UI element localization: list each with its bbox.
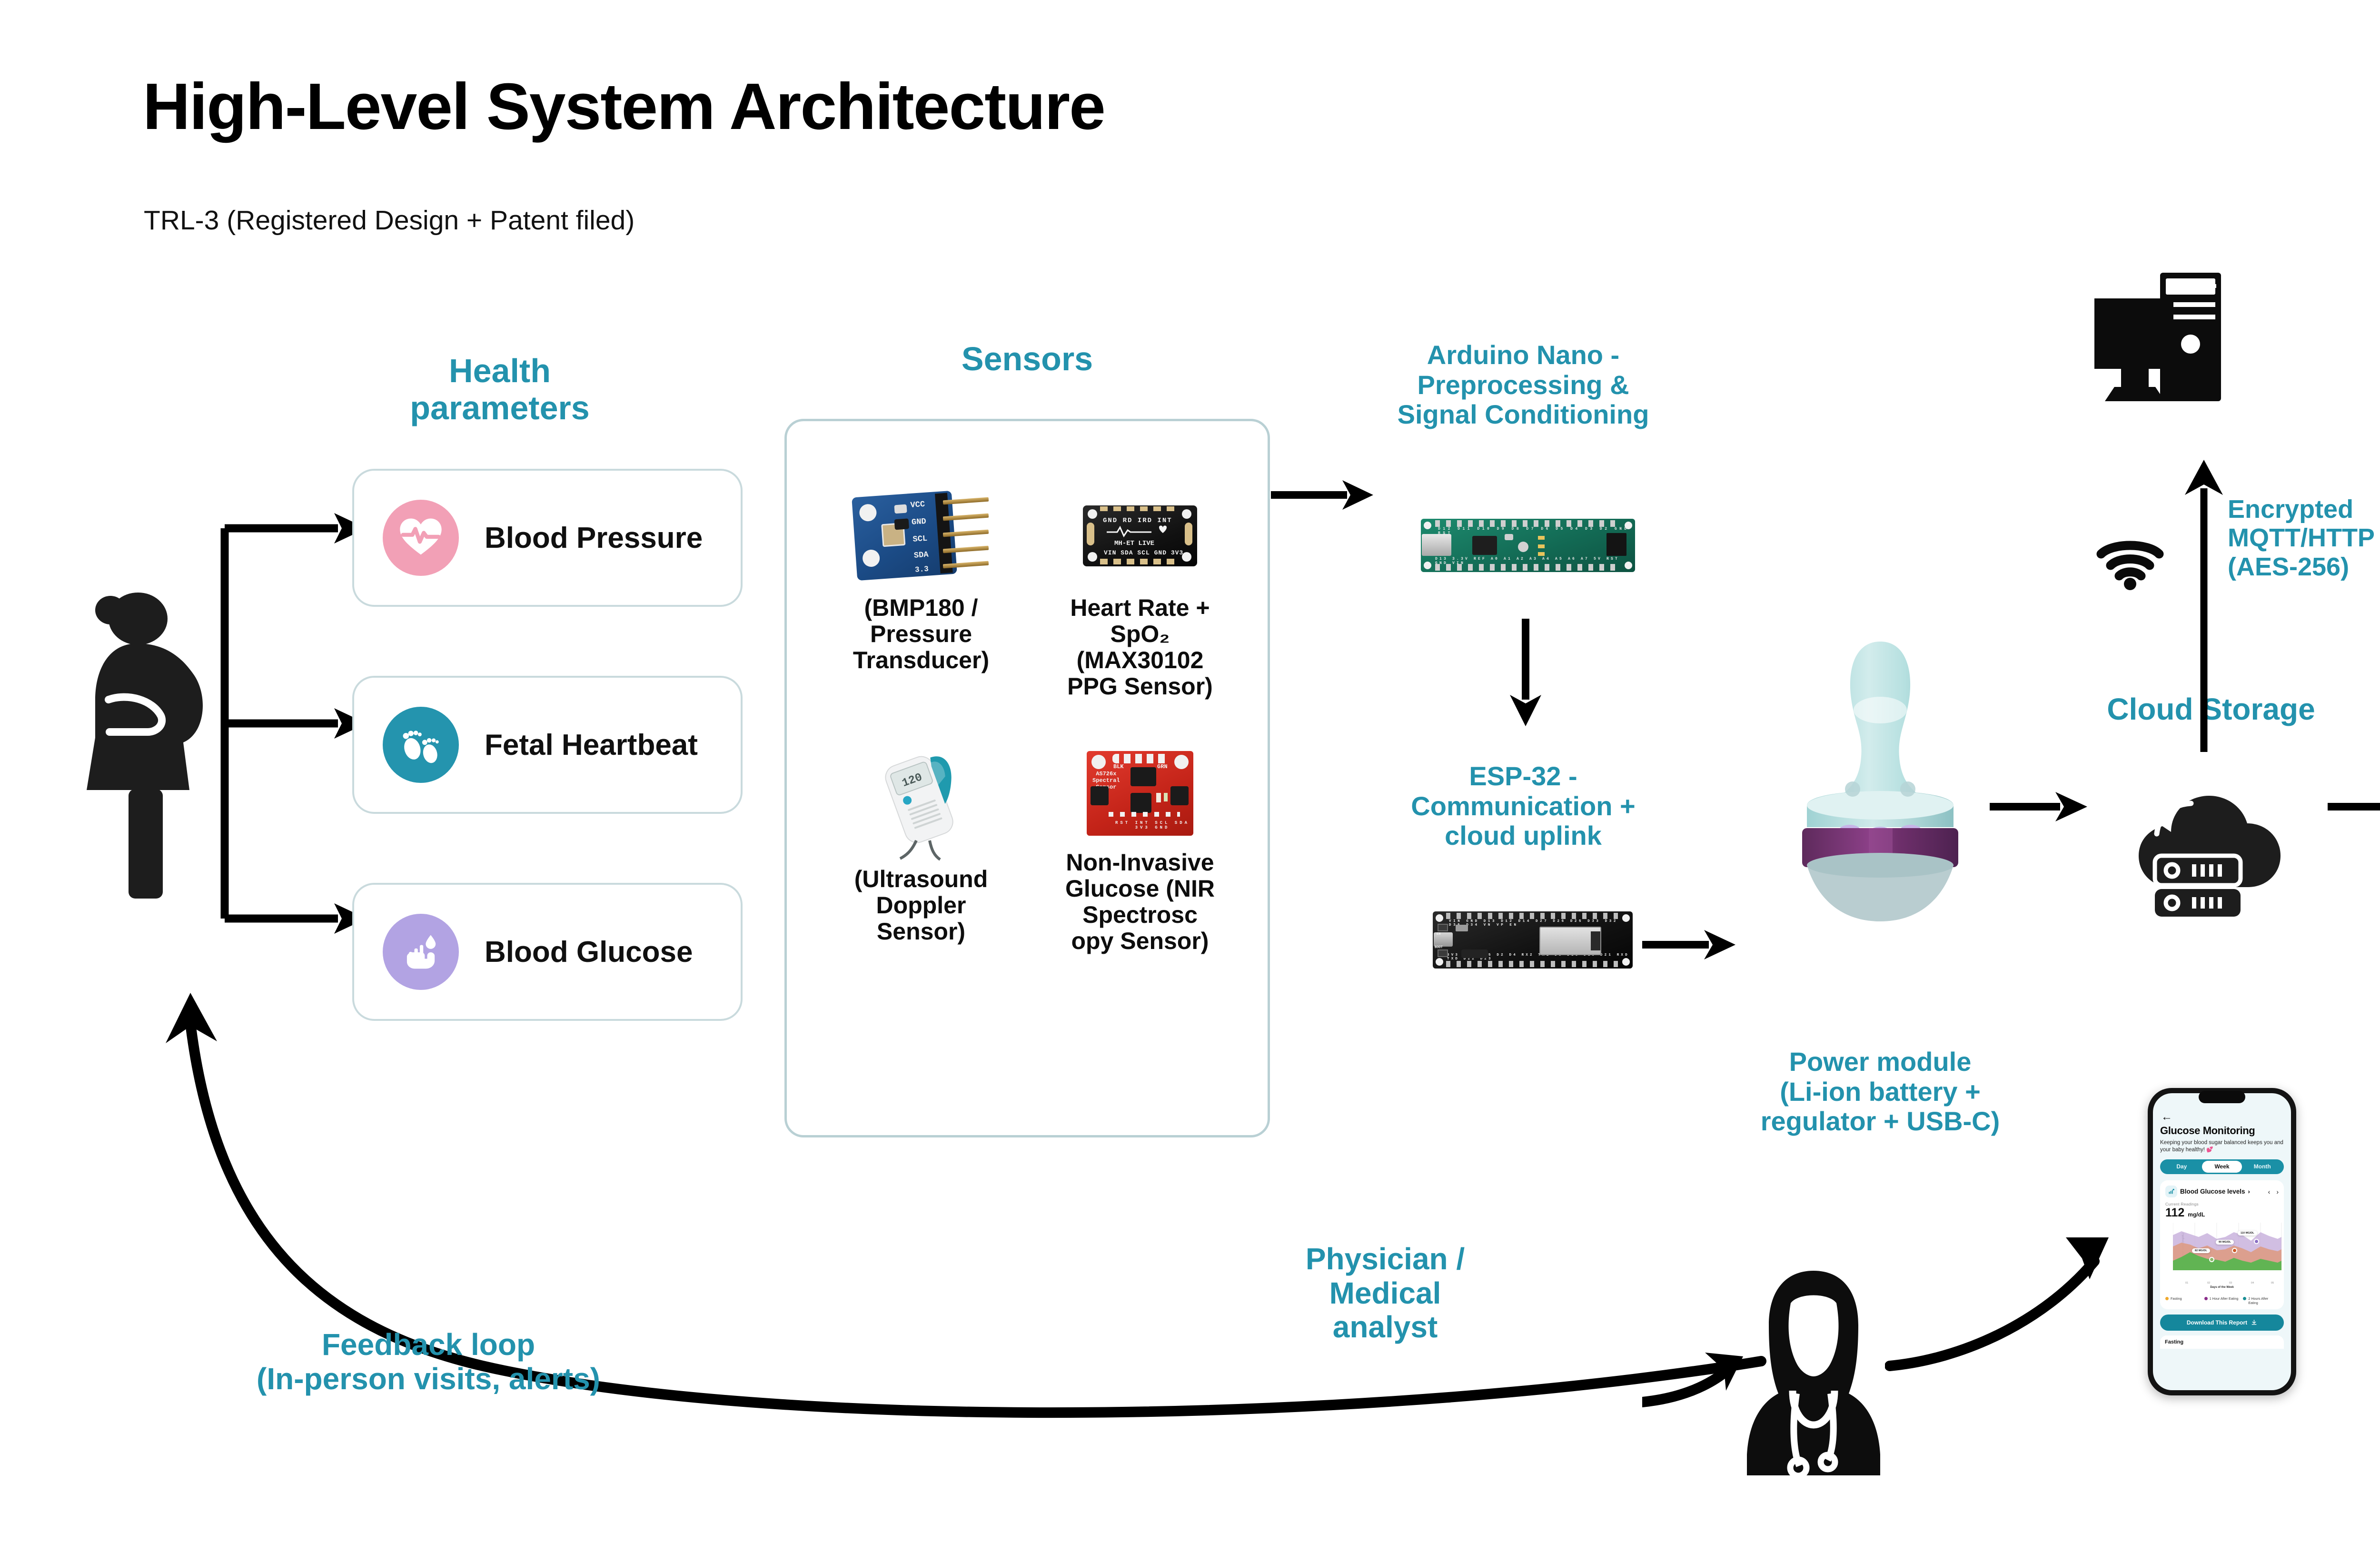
sensor-caption: (Ultrasound Doppler Sensor) (809, 866, 1033, 945)
arduino-label: Arduino Nano - Preprocessing & Signal Co… (1376, 340, 1671, 430)
chart-annotation-3: 110 MG/DL (2238, 1231, 2257, 1236)
chart-annotation-2: 90 MG/DL (2216, 1240, 2234, 1245)
arrow-cloud-to-dashboard (2175, 457, 2232, 752)
legend-label: 1 Hour After Eating (2210, 1296, 2239, 1305)
param-label: Blood Pressure (485, 521, 703, 555)
legend-dot (2243, 1297, 2246, 1300)
param-card-blood-pressure[interactable]: Blood Pressure (352, 469, 743, 607)
sensor-caption: (BMP180 / Pressure Transducer) (809, 595, 1033, 673)
physician-dashboard-label: Physician Dashboard (Web App) (2351, 259, 2380, 365)
glucose-card: Blood Glucose levels › ‹ › Current Readi… (2160, 1180, 2284, 1309)
range-tabs[interactable]: Day Week Month (2160, 1159, 2284, 1174)
legend-dot (2204, 1297, 2208, 1300)
mobile-app-phone[interactable]: ← Glucose Monitoring Keeping your blood … (2148, 1088, 2296, 1395)
chart-legend: Fasting 1 Hour After Eating 2 Hours Afte… (2165, 1296, 2279, 1305)
arrow-sensors-to-arduino (1271, 469, 1376, 521)
sensor-cell-max30102: GND RD IRD INT MH-ET LIVE VIN SDA SCL GN… (1028, 481, 1252, 700)
chart-xtick-4: 04 (2251, 1282, 2254, 1285)
download-report-button[interactable]: Download This Report (2160, 1315, 2284, 1331)
chart-point-3 (2254, 1239, 2259, 1244)
page-title: High-Level System Architecture (143, 69, 1105, 145)
legend-dot (2165, 1297, 2169, 1300)
tab-month[interactable]: Month (2242, 1161, 2282, 1173)
legend-label: Fasting (2171, 1296, 2182, 1305)
legend-label: 2 Hours After Eating (2248, 1296, 2279, 1305)
arrow-cloud-to-ai (2328, 781, 2380, 833)
mobile-app-label: Mobile App (2342, 1275, 2380, 1344)
pregnant-woman-icon (81, 581, 224, 914)
phone-notch (2199, 1091, 2245, 1103)
glucose-unit: mg/dL (2188, 1211, 2205, 1218)
arrow-power-to-cloud (1990, 781, 2090, 833)
app-page-subtitle: Keeping your blood sugar balanced keeps … (2160, 1139, 2284, 1154)
app-page-title: Glucose Monitoring (2160, 1125, 2284, 1137)
arrow-arduino-to-esp32 (1499, 619, 1552, 728)
legend-item-fasting: Fasting (2165, 1296, 2201, 1305)
sensor-caption: Heart Rate + SpO₂ (MAX30102 PPG Sensor) (1028, 595, 1252, 700)
arrow-to-physician (1642, 1342, 1747, 1428)
current-glucose-value: 112 mg/dL (2165, 1206, 2279, 1219)
prev-week-button[interactable]: ‹ (2268, 1188, 2271, 1196)
page-subtitle: TRL-3 (Registered Design + Patent filed) (144, 205, 635, 236)
doppler-probe-image: 120 (850, 742, 992, 861)
chart-x-axis-label: Days of the Week (2165, 1286, 2279, 1289)
esp32-label: ESP-32 - Communication + cloud uplink (1376, 761, 1671, 851)
health-parameters-heading-line2: parameters (400, 389, 600, 426)
chart-point-1 (2209, 1257, 2214, 1262)
sensor-caption: Non-Invasive Glucose (NIR Spectrosc opy … (1028, 850, 1252, 954)
back-arrow-icon[interactable]: ← (2161, 1111, 2284, 1123)
max30102-board-image: GND RD IRD INT MH-ET LIVE VIN SDA SCL GN… (1069, 481, 1211, 590)
card-title-chevron-icon[interactable]: › (2248, 1188, 2250, 1195)
glucose-chart-icon (2165, 1186, 2177, 1197)
chart-annotation-1: 82 MG/DL (2192, 1248, 2210, 1253)
heart-pulse-icon (383, 500, 459, 576)
phone-screen: ← Glucose Monitoring Keeping your blood … (2153, 1093, 2291, 1390)
health-parameters-heading: Health parameters (400, 352, 600, 427)
chart-xtick-2: 02 (2207, 1282, 2210, 1285)
bmp180-board-image: VCC GND SCL SDA 3.3 (850, 481, 992, 590)
glucose-number: 112 (2165, 1206, 2184, 1219)
feedback-loop-label: Feedback loop (In-person visits, alerts) (143, 1328, 714, 1396)
download-report-label: Download This Report (2187, 1319, 2247, 1326)
baby-feet-icon (383, 707, 459, 783)
tab-week[interactable]: Week (2202, 1161, 2242, 1173)
param-card-fetal-heartbeat[interactable]: Fetal Heartbeat (352, 676, 743, 814)
arrow-physician-to-mobile (1885, 1209, 2123, 1399)
sensor-cell-bmp180: VCC GND SCL SDA 3.3 (BMP180 / Pressure T… (809, 481, 1033, 673)
next-week-button[interactable]: › (2276, 1188, 2279, 1196)
wifi-icon (2094, 533, 2166, 590)
download-icon (2251, 1319, 2257, 1325)
chart-xtick-3: 03 (2229, 1282, 2232, 1285)
sensor-cell-nir: BLK GRN AS726xSpectralSensor RST INT SCL… (1028, 742, 1252, 954)
cloud-server-icon (2125, 781, 2292, 919)
arduino-nano-board-image: D12 D11 D10 D9 D8 D7 D6 D5 D4 D3 D2 GND … (1421, 519, 1635, 576)
handheld-device-image (1761, 638, 1999, 1028)
legend-item-1h: 1 Hour After Eating (2204, 1296, 2240, 1305)
sensors-heading: Sensors (889, 340, 1165, 377)
sensor-cell-doppler: 120 (Ultrasound Doppler Sensor) (809, 742, 1033, 945)
footer-row: Fasting (2160, 1335, 2284, 1349)
chart-point-2 (2232, 1248, 2237, 1253)
param-label: Fetal Heartbeat (485, 728, 698, 762)
health-parameters-heading-line1: Health (400, 352, 600, 389)
chart-xtick-1: 01 (2185, 1282, 2188, 1285)
glucose-card-title: Blood Glucose levels (2180, 1188, 2245, 1195)
chart-xtick-5: 05 (2271, 1282, 2274, 1285)
glucose-area-chart: Blood Glucose Level (mg/dL) 82 MG/DL (2165, 1223, 2279, 1280)
tab-day[interactable]: Day (2162, 1161, 2202, 1173)
desktop-computer-icon (2090, 264, 2242, 421)
legend-item-2h: 2 Hours After Eating (2243, 1296, 2279, 1305)
encrypted-link-label: Encrypted MQTT/HTTP (AES-256) (2228, 495, 2380, 581)
nir-spectral-board-image: BLK GRN AS726xSpectralSensor RST INT SCL… (1069, 742, 1211, 845)
